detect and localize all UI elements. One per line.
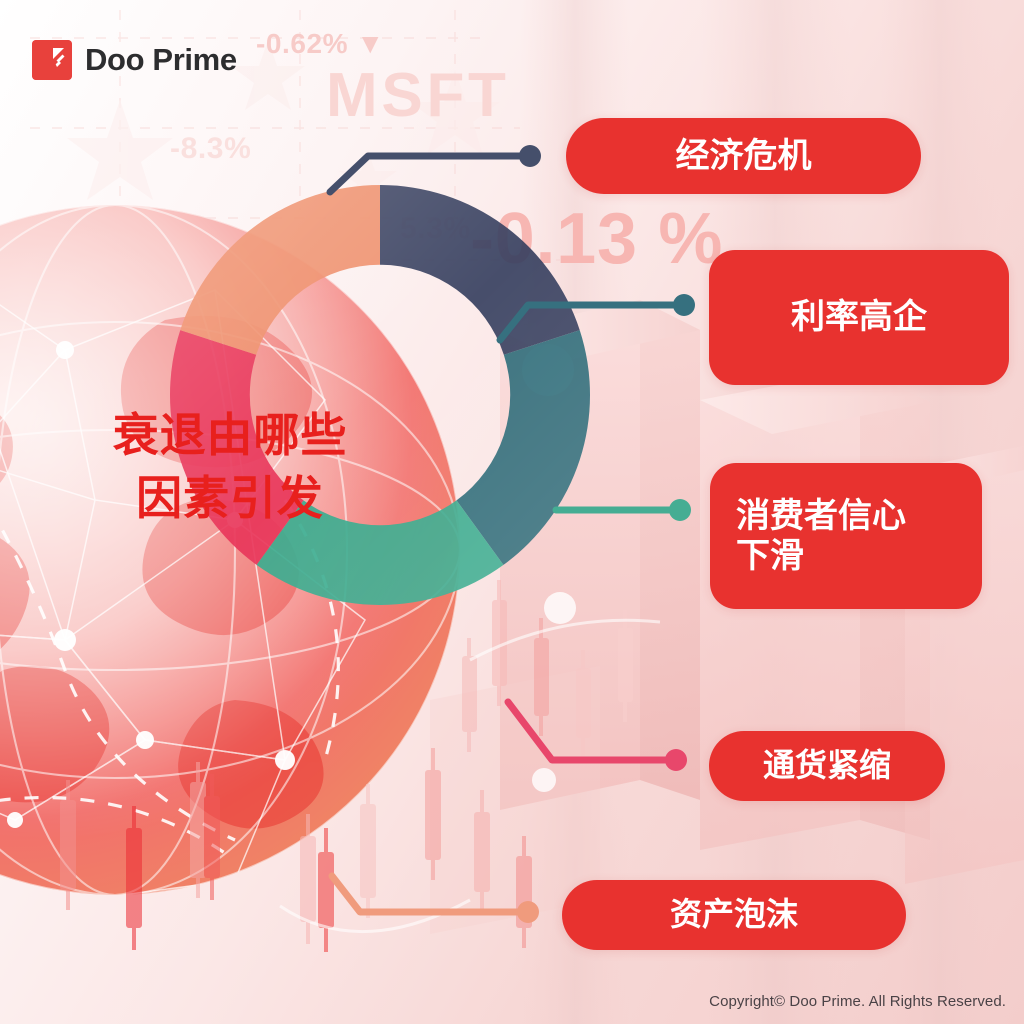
- callout-label: 通货紧缩: [763, 747, 891, 785]
- callout-label: 利率高企: [791, 297, 927, 337]
- callout-deflation[interactable]: 通货紧缩: [709, 731, 945, 801]
- page-title-line-2: 因素引发: [70, 467, 390, 530]
- page-title-line-1: 衰退由哪些: [70, 404, 390, 467]
- leader-endpoint-dot: [519, 145, 541, 167]
- brand-name: Doo Prime: [85, 42, 237, 78]
- brand-logo[interactable]: Doo Prime: [32, 40, 237, 80]
- leader-endpoint-dot: [517, 901, 539, 923]
- copyright-notice: Copyright© Doo Prime. All Rights Reserve…: [709, 993, 1006, 1010]
- callout-label: 资产泡沫: [670, 896, 798, 934]
- callout-label-line2: 下滑: [736, 536, 906, 576]
- leader-endpoint-dot: [665, 749, 687, 771]
- leader-endpoint-dot: [669, 499, 691, 521]
- callout-label: 消费者信心: [736, 496, 906, 536]
- callout-asset-bubble[interactable]: 资产泡沫: [562, 880, 906, 950]
- callout-consumer-confidence[interactable]: 消费者信心 下滑: [710, 463, 982, 609]
- infographic-canvas: -0.62% ▼ MSFT -8.3% 5.3% -0.13 %: [0, 0, 1024, 1024]
- leader-endpoint-dot: [673, 294, 695, 316]
- leader-line: [330, 156, 530, 192]
- doo-prime-logo-mark-icon: [32, 40, 72, 80]
- leader-line: [332, 876, 528, 912]
- leader-line: [508, 702, 676, 760]
- leader-line: [500, 305, 684, 340]
- callout-economic-crisis[interactable]: 经济危机: [566, 118, 921, 194]
- page-title: 衰退由哪些 因素引发: [70, 404, 390, 531]
- callout-label: 经济危机: [676, 136, 812, 176]
- callout-high-interest-rates[interactable]: 利率高企: [709, 250, 1009, 385]
